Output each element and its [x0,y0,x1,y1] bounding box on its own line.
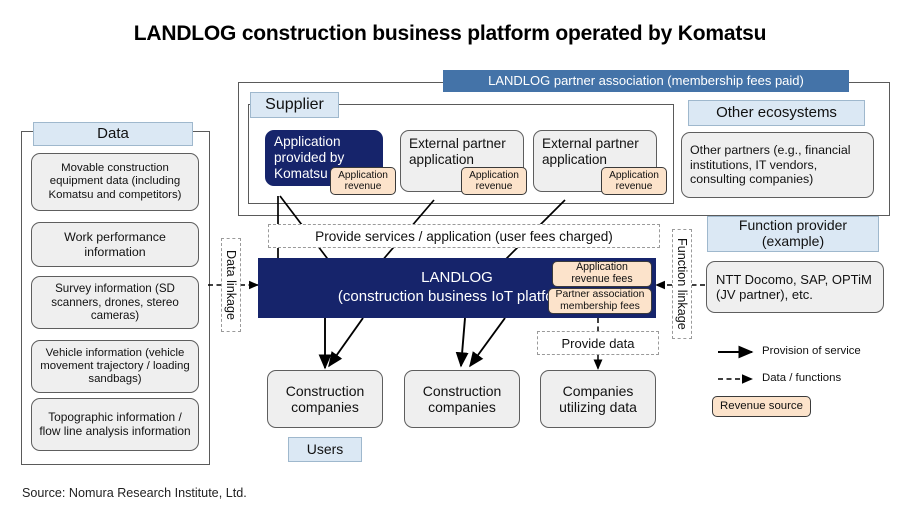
data-item-2[interactable]: Survey information (SD scanners, drones,… [31,276,199,329]
data-item-1[interactable]: Work performance information [31,222,199,267]
supplier-app-1-revenue-badge: Application revenue [461,167,527,195]
function-provider-label: Function provider (example) [707,216,879,252]
data-panel-label: Data [33,122,193,146]
partner-association-label: LANDLOG partner association (membership … [443,70,849,92]
data-item-1-label: Work performance information [37,230,193,259]
other-ecosystems-body: Other partners (e.g., financial institut… [690,143,865,186]
user-box-0[interactable]: Construction companies [267,370,383,428]
page-title: LANDLOG construction business platform o… [0,22,900,46]
other-ecosystems-box[interactable]: Other partners (e.g., financial institut… [681,132,874,198]
provide-data-label: Provide data [537,331,659,355]
platform-line2: (construction business IoT platform) [338,288,576,307]
user-box-2[interactable]: Companies utilizing data [540,370,656,428]
user-box-2-label: Companies utilizing data [546,383,650,415]
supplier-app-1-label: External partner application [409,136,518,168]
data-item-4[interactable]: Topographic information / flow line anal… [31,398,199,451]
supplier-app-2-revenue-badge: Application revenue [601,167,667,195]
data-item-0-label: Movable construction equipment data (inc… [37,162,193,202]
application-revenue-fees-badge: Application revenue fees [552,261,652,287]
data-item-0[interactable]: Movable construction equipment data (inc… [31,153,199,211]
function-provider-box[interactable]: NTT Docomo, SAP, OPTiM (JV partner), etc… [706,261,884,313]
function-provider-body: NTT Docomo, SAP, OPTiM (JV partner), etc… [716,272,874,302]
function-linkage-label: Function linkage [672,229,692,339]
supplier-app-2-label: External partner application [542,136,651,168]
platform-line1: LANDLOG [338,269,576,288]
provide-services-label: Provide services / application (user fee… [268,224,660,248]
user-box-1[interactable]: Construction companies [404,370,520,428]
data-linkage-label: Data linkage [221,238,241,332]
user-box-0-label: Construction companies [273,383,377,415]
data-item-3[interactable]: Vehicle information (vehicle movement tr… [31,340,199,393]
source-note: Source: Nomura Research Institute, Ltd. [22,486,247,500]
data-item-4-label: Topographic information / flow line anal… [37,411,193,439]
supplier-app-0-revenue-badge: Application revenue [330,167,396,195]
data-item-2-label: Survey information (SD scanners, drones,… [37,282,193,322]
legend-item-0-label: Provision of service [762,345,861,357]
user-box-1-label: Construction companies [410,383,514,415]
data-item-3-label: Vehicle information (vehicle movement tr… [37,347,193,387]
other-ecosystems-label: Other ecosystems [688,100,865,126]
legend-revenue-source-badge: Revenue source [712,396,811,417]
legend-item-1-label: Data / functions [762,372,841,384]
supplier-label: Supplier [250,92,339,118]
users-label: Users [288,437,362,462]
partner-association-fees-badge: Partner association membership fees [548,288,652,314]
